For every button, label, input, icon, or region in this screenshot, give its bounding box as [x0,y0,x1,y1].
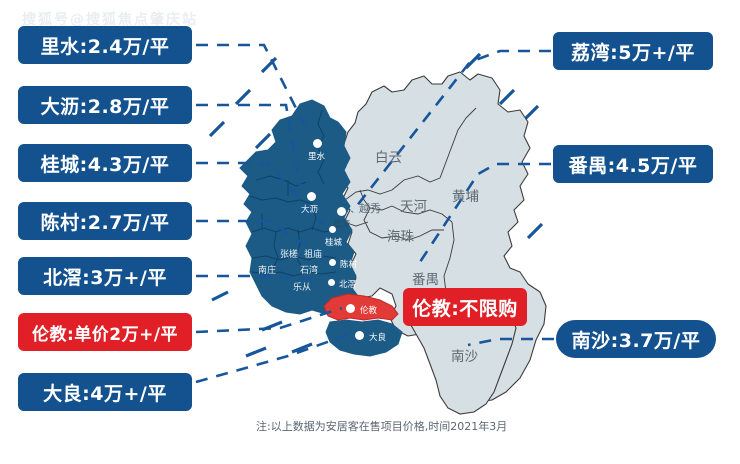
callout-liwan-label: 荔湾:5万+/平 [571,38,695,65]
city-dot-dali [307,192,316,201]
city-dot-guicheng [329,226,336,233]
map-label-dali: 大沥 [301,203,318,215]
map-label-panyu: 番禺 [412,268,439,288]
callout-lunjiao-price[interactable]: 伦教:单价2万+/平 [18,313,192,351]
callout-dali-label: 大沥:2.8万/平 [41,92,170,119]
callout-guicheng[interactable]: 桂城:4.3万/平 [18,144,192,182]
map-label-lecong: 乐从 [293,280,311,293]
callout-lunjiao-policy[interactable]: 伦教:不限购 [403,288,527,326]
map-label-daliang: 大良 [369,331,386,343]
callout-nansha[interactable]: 南沙:3.7万/平 [556,320,716,358]
callout-beijiao-label: 北滘:3万+/平 [43,263,167,290]
callout-lunjiao-policy-label: 伦教:不限购 [412,294,518,321]
map-label-lishui: 里水 [308,150,325,162]
map-label-zhangcha: 张槎 [280,247,298,260]
map-label-tianhe: 天河 [400,195,427,215]
footnote-text: 注:以上数据为安居客在售项目价格,时间2021年3月 [256,418,507,434]
callout-chencun[interactable]: 陈村:2.7万/平 [18,202,192,240]
callout-guicheng-label: 桂城:4.3万/平 [41,150,170,177]
map-label-beijiao: 北滘 [339,278,356,290]
city-dot-beijiao [328,279,335,286]
callout-daliang[interactable]: 大良:4万+/平 [18,373,192,411]
callout-lishui[interactable]: 里水:2.4万/平 [18,26,192,64]
callout-liwan[interactable]: 荔湾:5万+/平 [553,32,713,70]
city-dot-lishui [313,139,322,148]
map-label-lunjiao: 伦教 [360,304,377,316]
city-dot-lunjiao [346,304,355,313]
city-dot-liwan [337,207,346,216]
map-label-shiwan: 石湾 [300,263,318,276]
callout-panyu[interactable]: 番禺:4.5万/平 [553,145,713,183]
infographic-root: 搜狐号@搜狐焦点肇庆站 [0,0,740,464]
map-label-chencun: 陈村 [340,258,357,270]
callout-lishui-label: 里水:2.4万/平 [41,32,170,59]
callout-chencun-label: 陈村:2.7万/平 [41,208,170,235]
city-dot-daliang [355,331,364,340]
callout-panyu-label: 番禺:4.5万/平 [569,151,698,178]
map-label-yuexiu: 越秀 [359,200,381,216]
map-label-haizhu: 海珠 [387,225,414,245]
connector-daliang [196,334,350,382]
callout-lunjiao-price-label: 伦教:单价2万+/平 [32,320,178,345]
callout-dali[interactable]: 大沥:2.8万/平 [18,86,192,124]
city-dot-chencun [329,259,336,266]
callout-daliang-label: 大良:4万+/平 [43,379,167,406]
callout-beijiao[interactable]: 北滘:3万+/平 [18,257,192,295]
map-label-nansha: 南沙 [451,345,478,365]
callout-nansha-label: 南沙:3.7万/平 [572,326,701,353]
map-label-huangpu: 黄埔 [452,185,479,205]
map-label-nanzhuang: 南庄 [258,263,276,276]
map-label-baiyun: 白云 [375,146,402,166]
map-label-zumiao: 祖庙 [304,247,322,260]
map-label-guicheng: 桂城 [325,236,342,248]
connector-lishui [196,45,306,128]
